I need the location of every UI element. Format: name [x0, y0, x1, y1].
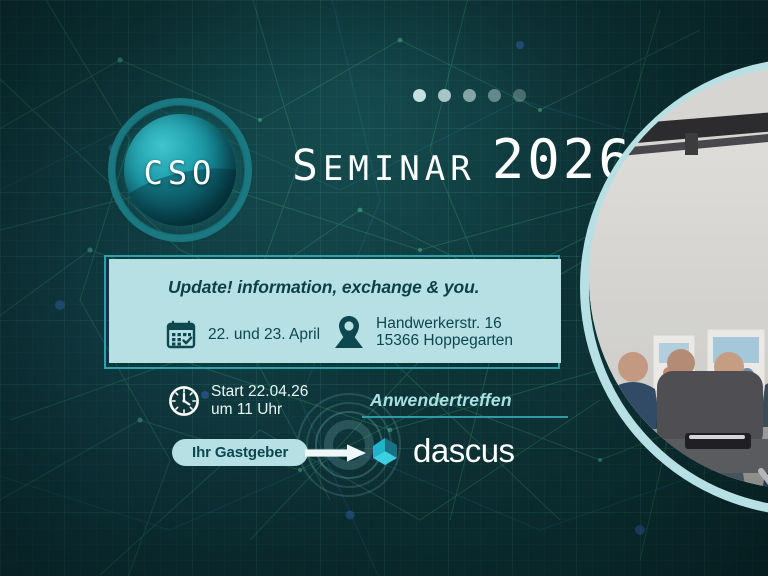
cso-logo: CSO	[108, 98, 252, 242]
clock-icon	[168, 385, 200, 417]
dot-indicators	[413, 89, 526, 102]
location-pin-icon	[333, 314, 365, 350]
seminar-banner: CSO SEMINAR2026 Update! information, exc…	[0, 0, 768, 576]
title-seminar: SEMINAR	[292, 149, 476, 189]
card-headline: Update! information, exchange & you.	[168, 277, 479, 298]
title-seminar-initial: S	[292, 141, 323, 191]
page-title: SEMINAR2026	[292, 128, 634, 191]
cso-logo-text: CSO	[108, 154, 252, 192]
address-label: Handwerkerstr. 1615366 Hoppegarten	[376, 315, 513, 349]
address-line-1: Handwerkerstr. 16	[376, 315, 502, 332]
address-line-2: 15366 Hoppegarten	[376, 332, 513, 349]
dascus-logo: dascus	[370, 432, 515, 470]
title-seminar-rest: EMINAR	[323, 149, 476, 189]
dascus-logo-mark	[370, 434, 404, 468]
meeting-underline	[362, 416, 568, 418]
photo-content	[589, 67, 768, 489]
address-row: Handwerkerstr. 1615366 Hoppegarten	[333, 314, 513, 350]
time-label: Start 22.04.26um 11 Uhr	[211, 383, 308, 418]
dascus-wordmark: dascus	[413, 432, 515, 470]
date-row: 22. und 23. April	[165, 318, 320, 350]
time-line-1: Start 22.04.26	[211, 383, 308, 400]
arrow-right-icon	[305, 444, 367, 462]
date-label: 22. und 23. April	[208, 326, 320, 343]
host-pill: Ihr Gastgeber	[172, 439, 308, 466]
seminar-audience-photo	[589, 67, 768, 489]
time-row: Start 22.04.26um 11 Uhr	[168, 383, 308, 418]
meeting-label: Anwendertreffen	[370, 390, 512, 411]
time-line-2: um 11 Uhr	[211, 401, 282, 418]
calendar-icon	[165, 318, 197, 350]
